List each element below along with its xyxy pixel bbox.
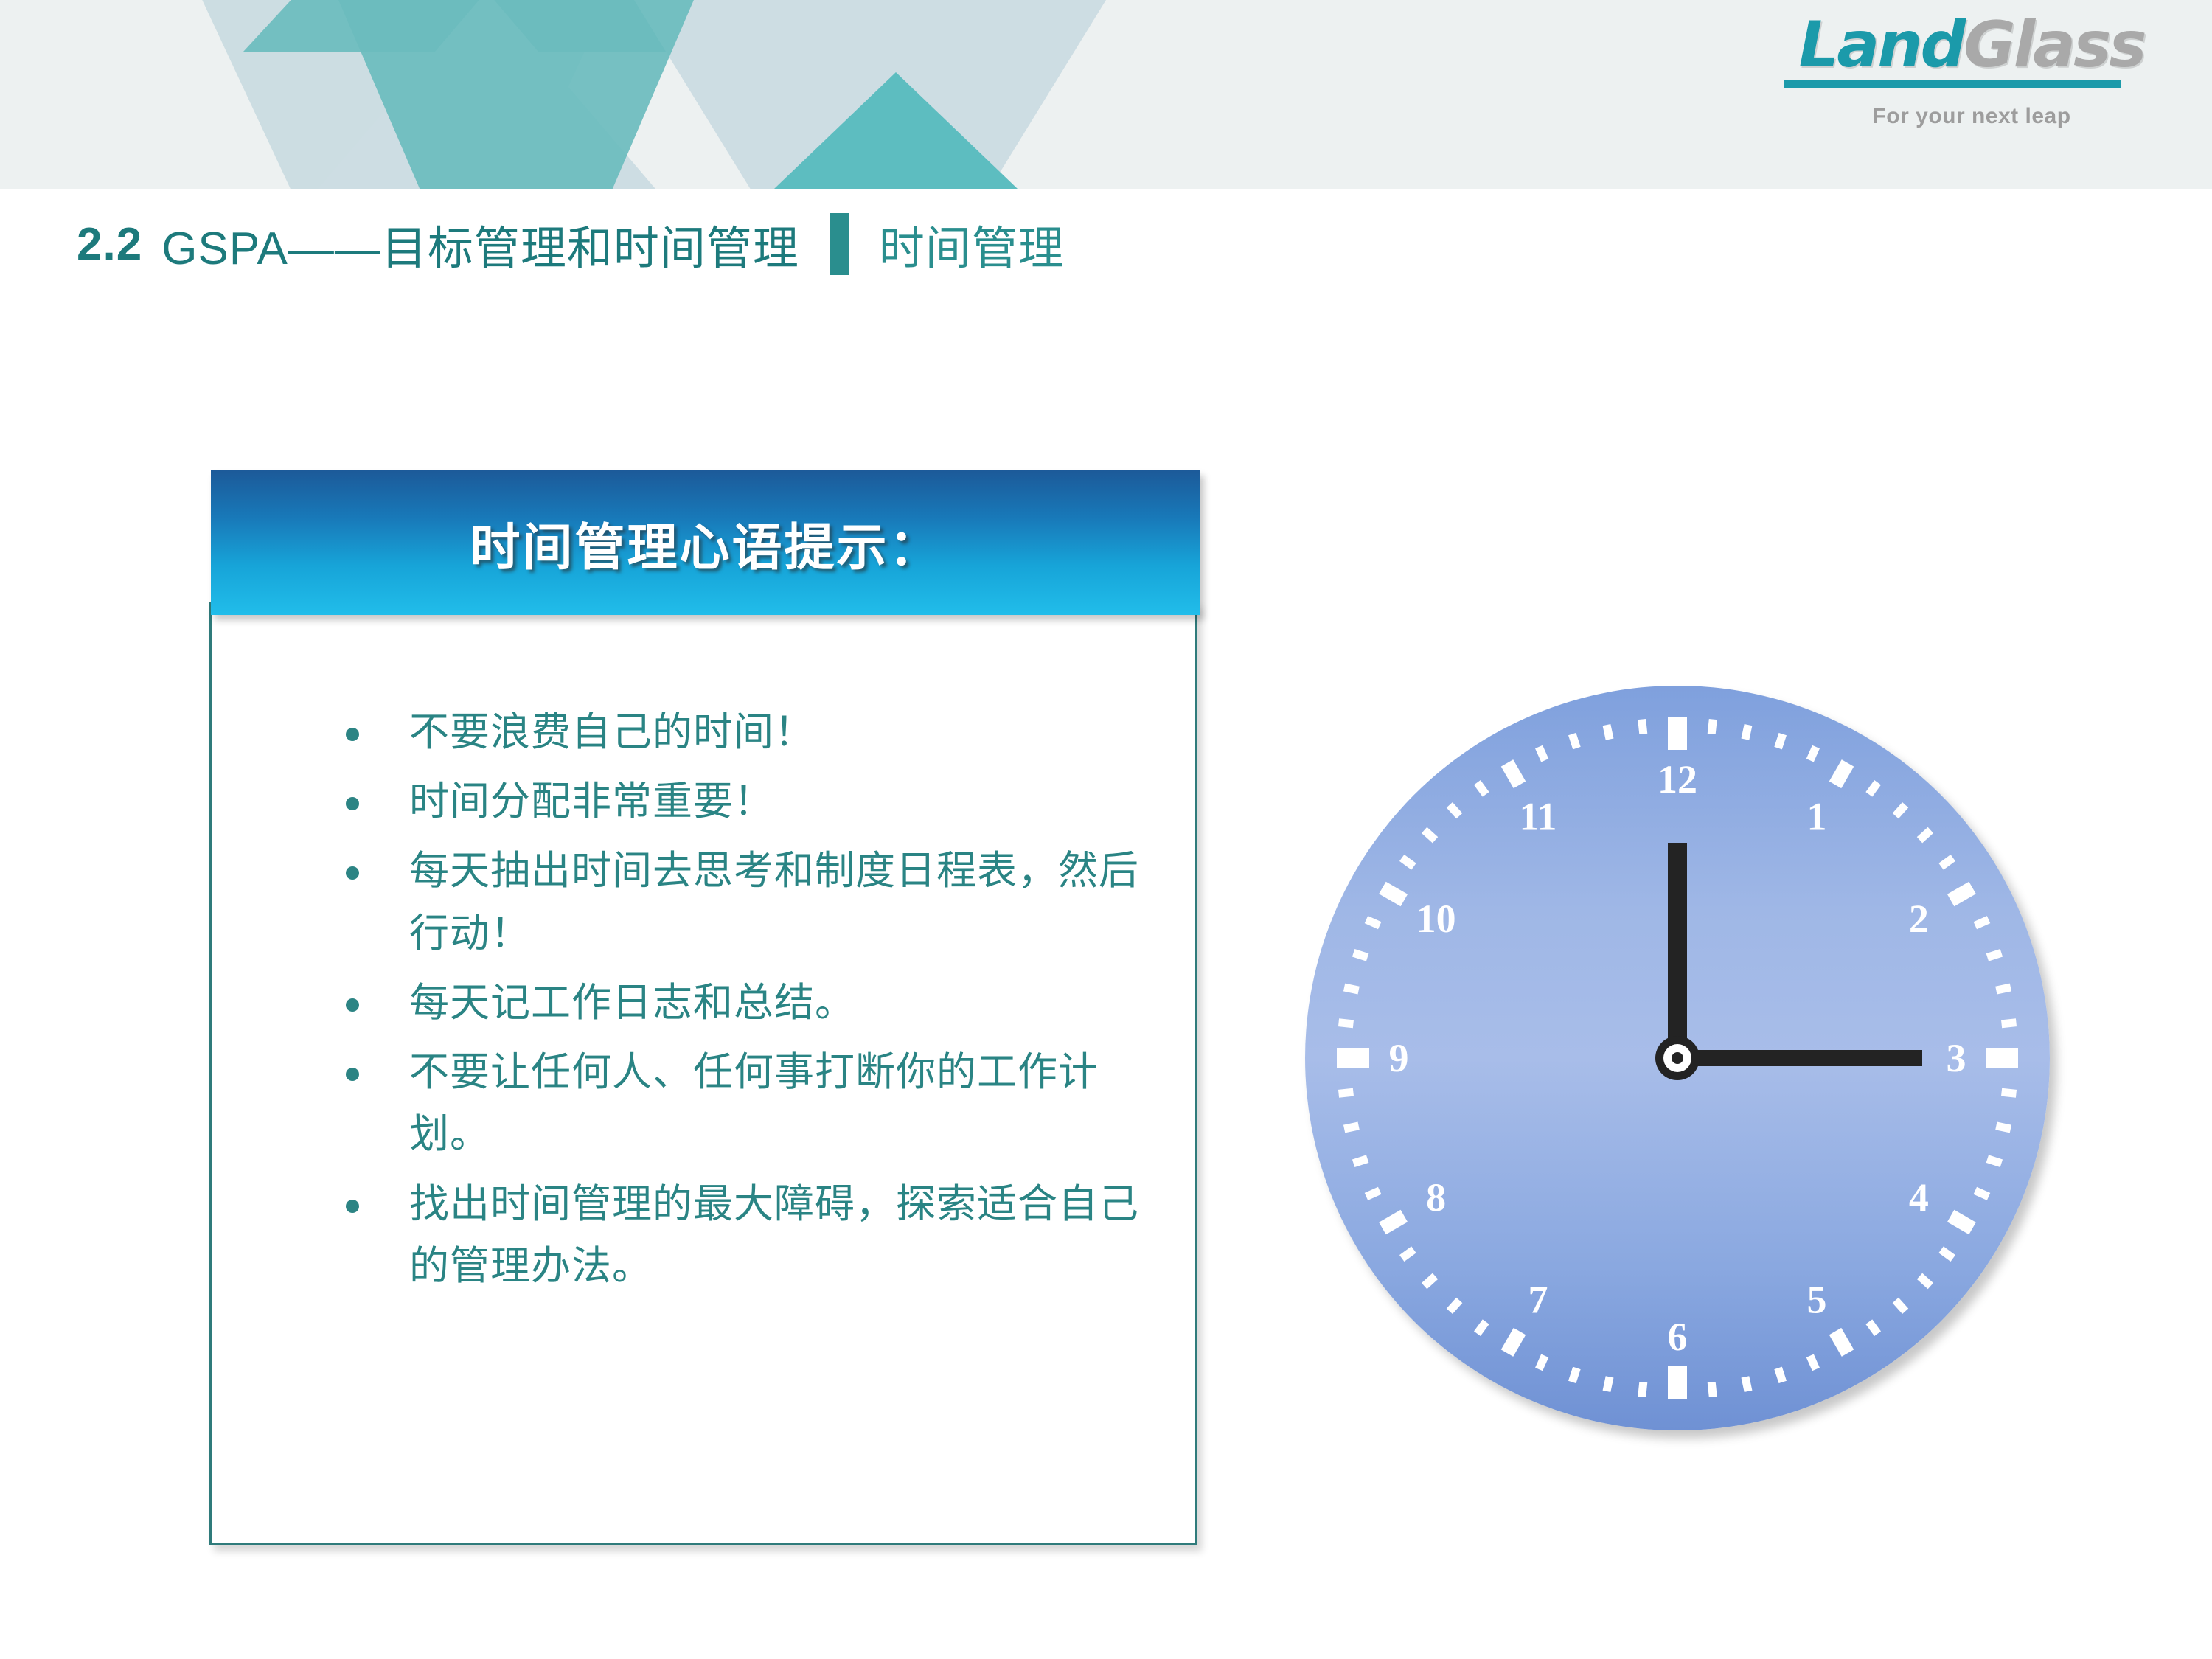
- title-divider-bar: [830, 213, 849, 275]
- clock-numeral: 1: [1807, 795, 1827, 839]
- clock-minute-tick: [1987, 1159, 2001, 1164]
- list-item-label: 每天抽出时间去思考和制度日程表，然后行动！: [409, 840, 1139, 964]
- brand-logo: LandGlass For your next leap: [1780, 13, 2163, 129]
- tips-body-box: 不要浪费自己的时间！ 时间分配非常重要！ 每天抽出时间去思考和制度日程表，然后行…: [209, 602, 1197, 1545]
- clock-minute-tick: [1642, 720, 1644, 734]
- clock-numeral: 6: [1668, 1315, 1688, 1359]
- clock-minute-tick: [1975, 919, 1989, 925]
- list-item-label: 不要让任何人、任何事打断你的工作计划。: [409, 1041, 1139, 1165]
- clock-minute-tick: [1951, 888, 1972, 900]
- clock-minute-tick: [1507, 763, 1520, 785]
- clock-numeral: 9: [1389, 1036, 1409, 1080]
- clock-dial-svg: 123456789101112: [1305, 686, 2050, 1430]
- list-item-label: 找出时间管理的最大障碍，探索适合自己的管理办法。: [409, 1173, 1139, 1297]
- clock-numeral: 8: [1426, 1175, 1446, 1220]
- bullet-dot-icon: [346, 797, 359, 810]
- clock-numeral: 5: [1807, 1277, 1827, 1321]
- clock-minute-tick: [1339, 1092, 1354, 1093]
- slide-title-number: 2.2: [77, 218, 142, 271]
- clock-minute-tick: [1450, 805, 1459, 816]
- clock-minute-tick: [1572, 1368, 1576, 1382]
- clock-minute-tick: [1382, 888, 1404, 900]
- clock-minute-tick: [1869, 782, 1878, 794]
- clock-minute-tick: [1996, 1126, 2011, 1129]
- clock-minute-tick: [1919, 830, 1930, 840]
- list-item: 每天记工作日志和总结。: [212, 972, 1195, 1034]
- tips-bullet-list: 不要浪费自己的时间！ 时间分配非常重要！ 每天抽出时间去思考和制度日程表，然后行…: [212, 701, 1195, 1304]
- clock-minute-tick: [2002, 1023, 2017, 1024]
- list-item-label: 每天记工作日志和总结。: [409, 972, 855, 1034]
- clock-widget: 123456789101112: [1305, 686, 2050, 1430]
- clock-minute-tick: [1778, 1368, 1783, 1382]
- list-item: 不要让任何人、任何事打断你的工作计划。: [212, 1041, 1195, 1165]
- tips-header-banner: 时间管理心语提示：: [211, 470, 1200, 615]
- bullet-dot-icon: [346, 1068, 359, 1081]
- clock-numeral: 12: [1658, 757, 1697, 801]
- bullet-dot-icon: [346, 866, 359, 880]
- clock-numeral: 4: [1909, 1175, 1929, 1220]
- clock-minute-tick: [1425, 1276, 1436, 1286]
- clock-minute-tick: [1941, 1250, 1953, 1259]
- clock-minute-tick: [1835, 1332, 1848, 1353]
- clock-minute-tick: [1477, 782, 1486, 794]
- list-item: 不要浪费自己的时间！: [212, 701, 1195, 763]
- clock-minute-tick: [1919, 1276, 1930, 1286]
- clock-numeral: 7: [1528, 1277, 1548, 1321]
- clock-minute-tick: [1366, 1191, 1380, 1197]
- clock-numeral: 3: [1947, 1036, 1966, 1080]
- clock-minute-tick: [1896, 1300, 1905, 1311]
- list-item: 时间分配非常重要！: [212, 771, 1195, 832]
- clock-minute-tick: [1366, 919, 1380, 925]
- clock-minute-tick: [1572, 734, 1576, 748]
- logo-word-glass: Glass: [1964, 8, 2144, 82]
- clock-minute-tick: [1810, 747, 1816, 760]
- clock-minute-tick: [1778, 734, 1783, 748]
- decorative-triangle-teal-main: [243, 0, 789, 189]
- list-item: 找出时间管理的最大障碍，探索适合自己的管理办法。: [212, 1173, 1195, 1297]
- clock-minute-tick: [1344, 1126, 1359, 1129]
- clock-minute-tick: [1382, 1216, 1404, 1228]
- clock-minute-tick: [1810, 1356, 1816, 1369]
- slide-title-main: GSPA——目标管理和时间管理: [161, 211, 799, 277]
- tips-header-label: 时间管理心语提示：: [470, 507, 941, 580]
- clock-minute-tick: [1402, 1250, 1413, 1259]
- clock-minute-tick: [1344, 987, 1359, 990]
- logo-tagline: For your next leap: [1780, 104, 2163, 129]
- clock-minute-tick: [1745, 1377, 1748, 1391]
- clock-minute-tick: [1745, 725, 1748, 740]
- clock-minute-tick: [1951, 1216, 1972, 1228]
- clock-minute-tick: [1402, 858, 1413, 866]
- slide-title: 2.2 GSPA——目标管理和时间管理 时间管理: [77, 211, 1065, 277]
- clock-minute-tick: [1477, 1322, 1486, 1334]
- clock-numeral: 2: [1909, 897, 1929, 941]
- clock-center-dot: [1672, 1052, 1683, 1064]
- bullet-dot-icon: [346, 998, 359, 1012]
- clock-minute-tick: [1607, 1377, 1610, 1391]
- clock-minute-tick: [1425, 830, 1436, 840]
- clock-numeral: 10: [1416, 897, 1456, 941]
- clock-minute-tick: [1711, 720, 1713, 734]
- clock-minute-tick: [1987, 953, 2001, 957]
- bullet-dot-icon: [346, 1200, 359, 1213]
- clock-minute-tick: [1835, 763, 1848, 785]
- clock-minute-tick: [1869, 1322, 1878, 1334]
- clock-minute-tick: [1996, 987, 2011, 990]
- slide-title-subtitle: 时间管理: [879, 211, 1065, 277]
- tips-panel: 不要浪费自己的时间！ 时间分配非常重要！ 每天抽出时间去思考和制度日程表，然后行…: [211, 470, 1200, 615]
- clock-minute-tick: [1450, 1300, 1459, 1311]
- list-item-label: 不要浪费自己的时间！: [409, 701, 815, 763]
- logo-wordmark: LandGlass: [1780, 13, 2163, 77]
- clock-minute-tick: [1354, 1159, 1368, 1164]
- clock-minute-tick: [1507, 1332, 1520, 1353]
- clock-minute-tick: [1539, 747, 1545, 760]
- clock-minute-tick: [1354, 953, 1368, 957]
- list-item: 每天抽出时间去思考和制度日程表，然后行动！: [212, 840, 1195, 964]
- bullet-dot-icon: [346, 728, 359, 741]
- logo-word-land: Land: [1798, 8, 1964, 82]
- clock-minute-tick: [1896, 805, 1905, 816]
- clock-minute-tick: [1607, 725, 1610, 740]
- clock-minute-tick: [1941, 858, 1953, 866]
- clock-minute-tick: [2002, 1092, 2017, 1093]
- clock-minute-tick: [1539, 1356, 1545, 1369]
- decorative-triangle-teal-small: [774, 72, 1018, 189]
- list-item-label: 时间分配非常重要！: [409, 771, 774, 832]
- slide-canvas: LandGlass For your next leap 2.2 GSPA——目…: [0, 0, 2212, 1659]
- clock-minute-tick: [1711, 1382, 1713, 1397]
- clock-minute-tick: [1642, 1382, 1644, 1397]
- clock-numeral: 11: [1519, 795, 1557, 839]
- clock-minute-tick: [1975, 1191, 1989, 1197]
- clock-minute-tick: [1339, 1023, 1354, 1024]
